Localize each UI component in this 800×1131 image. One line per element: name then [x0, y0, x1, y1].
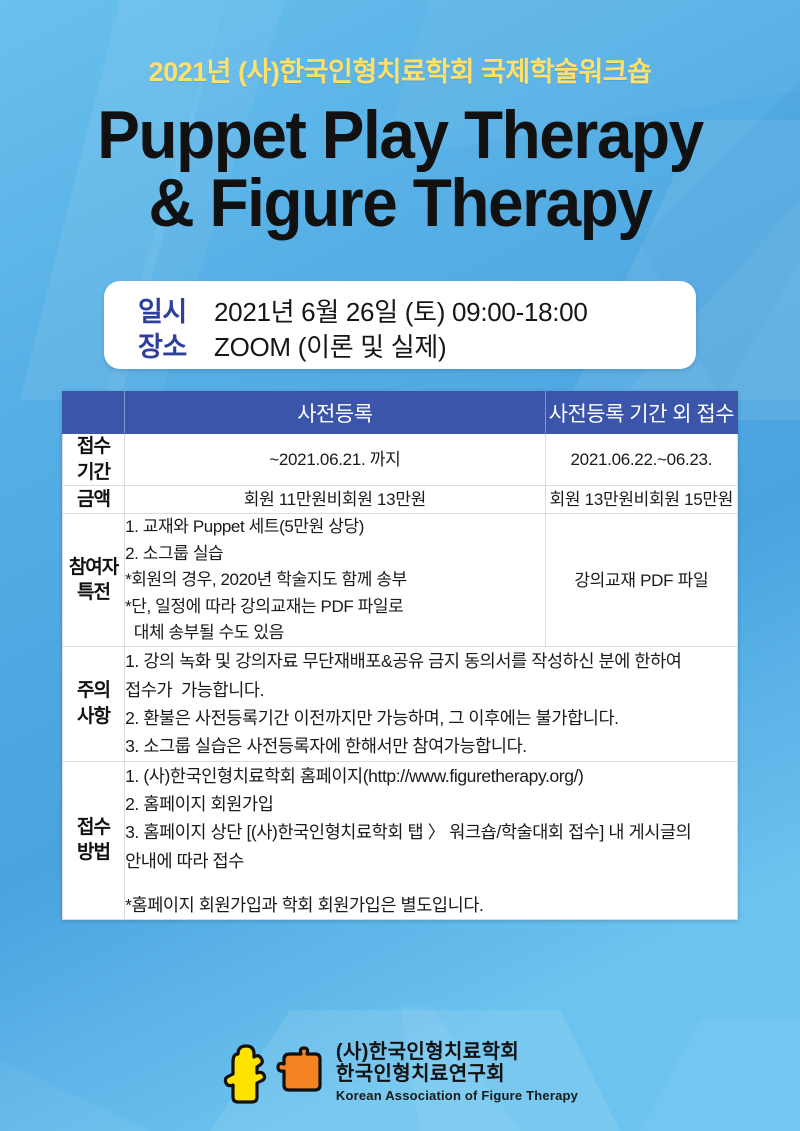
table-body: 접수기간~2021.06.21. 까지2021.06.22.~06.23.금액회… — [63, 434, 738, 920]
cell-line: 안내에 따라 접수 — [125, 847, 737, 875]
table-row: 주의사항1. 강의 녹화 및 강의자료 무단재배포&공유 금지 동의서를 작성하… — [63, 647, 738, 761]
event-info-card: 일시 2021년 6월 26일 (토) 09:00-18:00 장소 ZOOM … — [104, 281, 696, 369]
row-label-line: 특전 — [63, 580, 124, 606]
row-content-cell-full: 1. 강의 녹화 및 강의자료 무단재배포&공유 금지 동의서를 작성하신 분에… — [125, 647, 738, 761]
event-date-row: 일시 2021년 6월 26일 (토) 09:00-18:00 — [138, 290, 696, 325]
table-header-row: 사전등록 사전등록 기간 외 접수 — [63, 392, 738, 434]
table-row: 접수기간~2021.06.21. 까지2021.06.22.~06.23. — [63, 434, 738, 486]
row-label-cell: 주의사항 — [63, 647, 125, 761]
org-name-institute: 한국인형치료연구회 — [336, 1063, 578, 1085]
row-content-cell-post: 회원 13만원비회원 15만원 — [545, 486, 737, 514]
cell-line: 2021.06.22.~06.23. — [571, 450, 713, 469]
table-header: 사전등록 사전등록 기간 외 접수 — [63, 392, 738, 434]
cell-line: 2. 홈페이지 회원가입 — [125, 790, 737, 818]
registration-table: 사전등록 사전등록 기간 외 접수 접수기간~2021.06.21. 까지202… — [62, 391, 738, 920]
place-label: 장소 — [138, 325, 214, 364]
row-content-cell-post: 2021.06.22.~06.23. — [545, 434, 737, 486]
title-line-1: Puppet Play Therapy — [24, 102, 776, 169]
row-label-cell: 접수방법 — [63, 761, 125, 920]
row-content-cell-post: 강의교재 PDF 파일 — [545, 514, 737, 647]
org-name-english: Korean Association of Figure Therapy — [336, 1088, 578, 1103]
row-label-cell: 참여자특전 — [63, 514, 125, 647]
row-label-line: 금액 — [63, 487, 124, 513]
cell-line: 1. 교재와 Puppet 세트(5만원 상당) — [125, 514, 545, 540]
row-content-cell-pre: 1. 교재와 Puppet 세트(5만원 상당)2. 소그룹 실습*회원의 경우… — [125, 514, 546, 647]
cell-line: ~2021.06.21. 까지 — [269, 450, 400, 469]
cell-line: 비회원 15만원 — [634, 490, 733, 509]
row-label-line: 접수 — [63, 434, 124, 460]
cell-line: *단, 일정에 따라 강의교재는 PDF 파일로 — [125, 594, 545, 620]
place-value: ZOOM (이론 및 실제) — [214, 327, 446, 364]
cell-line: 대체 송부될 수도 있음 — [125, 620, 545, 646]
cell-line — [125, 875, 737, 891]
header-cell-blank — [63, 392, 125, 434]
row-label-line: 사항 — [63, 704, 124, 730]
cell-line: 3. 홈페이지 상단 [(사)한국인형치료학회 탭 〉 워크숍/학술대회 접수]… — [125, 818, 737, 846]
org-name-association: (사)한국인형치료학회 — [336, 1041, 578, 1063]
row-content-cell-full: 1. (사)한국인형치료학회 홈페이지(http://www.figurethe… — [125, 761, 738, 920]
row-content-cell-pre: 회원 11만원비회원 13만원 — [125, 486, 546, 514]
footer-logo-block: (사)한국인형치료학회 한국인형치료연구회 Korean Association… — [0, 1040, 800, 1106]
poster-header: 2021년 (사)한국인형치료학회 국제학술워크숍 Puppet Play Th… — [0, 0, 800, 237]
header-cell-late-registration: 사전등록 기간 외 접수 — [545, 392, 737, 434]
cell-line: *회원의 경우, 2020년 학술지도 함께 송부 — [125, 567, 545, 593]
row-label-line: 접수 — [63, 815, 124, 841]
cell-line: 비회원 13만원 — [327, 490, 426, 509]
cell-line: 3. 소그룹 실습은 사전등록자에 한해서만 참여가능합니다. — [125, 732, 737, 760]
cell-line: 회원 13만원 — [550, 490, 634, 509]
row-label-cell: 접수기간 — [63, 434, 125, 486]
date-value: 2021년 6월 26일 (토) 09:00-18:00 — [214, 292, 588, 329]
cell-line: 회원 11만원 — [244, 490, 327, 509]
poster-root: 2021년 (사)한국인형치료학회 국제학술워크숍 Puppet Play Th… — [0, 0, 800, 1131]
cell-line: 1. (사)한국인형치료학회 홈페이지(http://www.figurethe… — [125, 762, 737, 790]
organization-names: (사)한국인형치료학회 한국인형치료연구회 Korean Association… — [336, 1040, 578, 1103]
row-label-line: 참여자 — [63, 555, 124, 581]
cell-line: 강의교재 PDF 파일 — [574, 571, 708, 590]
header-cell-pre-registration: 사전등록 — [125, 392, 546, 434]
table-row: 금액회원 11만원비회원 13만원회원 13만원비회원 15만원 — [63, 486, 738, 514]
row-content-cell-pre: ~2021.06.21. 까지 — [125, 434, 546, 486]
event-kicker: 2021년 (사)한국인형치료학회 국제학술워크숍 — [0, 56, 800, 88]
cell-line: *홈페이지 회원가입과 학회 회원가입은 별도입니다. — [125, 891, 737, 919]
cell-line: 1. 강의 녹화 및 강의자료 무단재배포&공유 금지 동의서를 작성하신 분에… — [125, 647, 737, 675]
page-title: Puppet Play Therapy & Figure Therapy — [24, 102, 776, 237]
row-label-cell: 금액 — [63, 486, 125, 514]
table-row: 접수방법1. (사)한국인형치료학회 홈페이지(http://www.figur… — [63, 761, 738, 920]
cell-line: 2. 소그룹 실습 — [125, 541, 545, 567]
row-label-line: 방법 — [63, 840, 124, 866]
row-label-line: 기간 — [63, 460, 124, 486]
date-label: 일시 — [138, 290, 214, 329]
event-place-row: 장소 ZOOM (이론 및 실제) — [138, 325, 696, 360]
cell-line: 2. 환불은 사전등록기간 이전까지만 가능하며, 그 이후에는 불가합니다. — [125, 704, 737, 732]
title-line-2: & Figure Therapy — [24, 170, 776, 237]
row-label-line: 주의 — [63, 678, 124, 704]
cell-line: 접수가 가능합니다. — [125, 676, 737, 704]
table-row: 참여자특전1. 교재와 Puppet 세트(5만원 상당)2. 소그룹 실습*회… — [63, 514, 738, 647]
two-puzzle-figures-icon — [222, 1040, 330, 1106]
